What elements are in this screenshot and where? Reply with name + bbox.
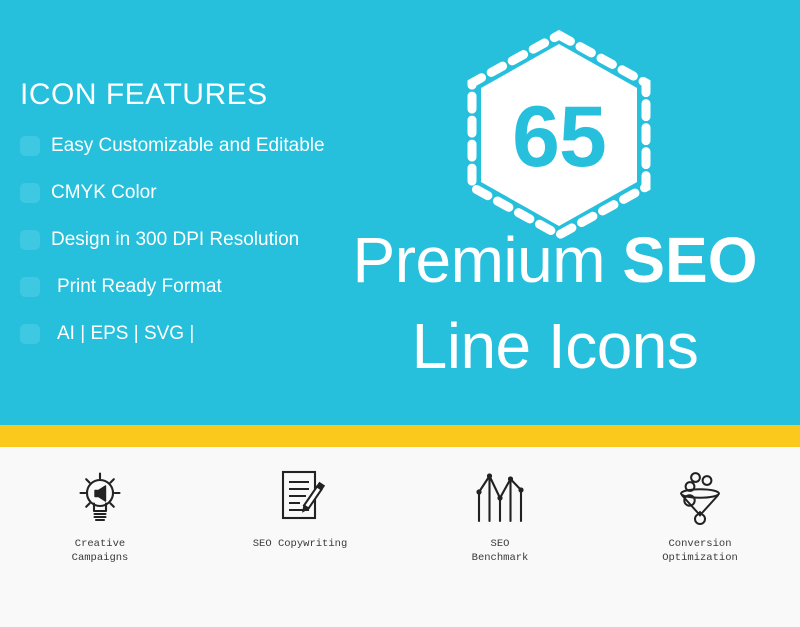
- hero-title-light: Premium: [353, 224, 623, 296]
- icon-showcase: Creative Campaigns SEO Copywriting: [0, 447, 800, 627]
- checkbox-bullet-icon: [20, 136, 40, 156]
- feature-list: Easy Customizable and Editable CMYK Colo…: [20, 122, 325, 357]
- showcase-item-seo-benchmark[interactable]: SEO Benchmark: [400, 447, 600, 627]
- hero-title-line-1: Premium SEO: [320, 228, 790, 292]
- status-badge: 65: [460, 30, 658, 240]
- checkbox-bullet-icon: [20, 277, 40, 297]
- showcase-item-label: SEO Benchmark: [472, 537, 529, 565]
- document-pencil-icon: [268, 465, 332, 529]
- list-item-label: Print Ready Format: [57, 276, 222, 298]
- checkbox-bullet-icon: [20, 324, 40, 344]
- showcase-item-seo-copywriting[interactable]: SEO Copywriting: [200, 447, 400, 627]
- divider: [0, 425, 800, 447]
- badge-count: 65: [460, 30, 658, 240]
- funnel-conversion-icon: [668, 465, 732, 529]
- list-item: Design in 300 DPI Resolution: [20, 216, 325, 263]
- checkbox-bullet-icon: [20, 183, 40, 203]
- list-item: Print Ready Format: [20, 263, 325, 310]
- showcase-item-label: Conversion Optimization: [662, 537, 738, 565]
- list-item: Easy Customizable and Editable: [20, 122, 325, 169]
- list-item-label: AI | EPS | SVG |: [57, 323, 194, 345]
- showcase-item-label: SEO Copywriting: [253, 537, 348, 551]
- hero-title-bold: SEO: [622, 224, 757, 296]
- list-item: AI | EPS | SVG |: [20, 310, 325, 357]
- list-item-label: Design in 300 DPI Resolution: [51, 229, 299, 251]
- showcase-item-label: Creative Campaigns: [72, 537, 129, 565]
- list-item: CMYK Color: [20, 169, 325, 216]
- showcase-item-creative-campaigns[interactable]: Creative Campaigns: [0, 447, 200, 627]
- list-item-label: Easy Customizable and Editable: [51, 135, 325, 157]
- list-item-label: CMYK Color: [51, 182, 157, 204]
- line-chart-bars-icon: [468, 465, 532, 529]
- checkbox-bullet-icon: [20, 230, 40, 250]
- page-title: ICON FEATURES: [20, 78, 268, 112]
- hero-title-line-2: Line Icons: [320, 314, 790, 378]
- lightbulb-megaphone-icon: [68, 465, 132, 529]
- hero-title: Premium SEO Line Icons: [320, 228, 790, 378]
- showcase-item-conversion-optimization[interactable]: Conversion Optimization: [600, 447, 800, 627]
- hero-banner: ICON FEATURES Easy Customizable and Edit…: [0, 0, 800, 425]
